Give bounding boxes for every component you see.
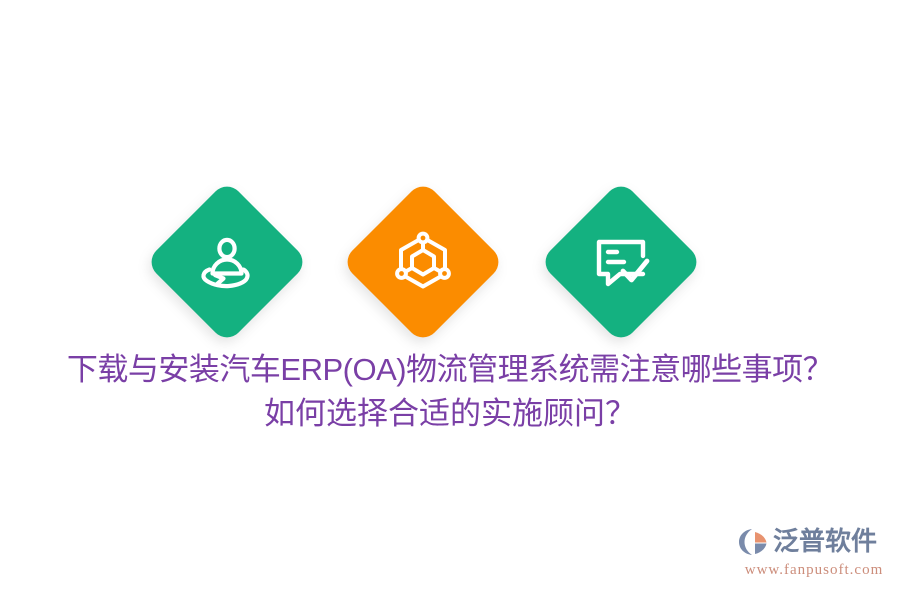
fanpu-logo-mark-icon	[738, 527, 770, 557]
chat-approved-card	[539, 180, 703, 344]
headline: 下载与安装汽车ERP(OA)物流管理系统需注意哪些事项？ 如何选择合适的实施顾问…	[0, 348, 900, 436]
logo-brand-name: 泛普软件	[773, 527, 877, 557]
user-orbit-card	[145, 180, 309, 344]
headline-line-2: 如何选择合适的实施顾问？	[0, 392, 900, 436]
banner-image: 下载与安装汽车ERP(OA)物流管理系统需注意哪些事项？ 如何选择合适的实施顾问…	[0, 0, 900, 600]
logo-url: www.fanpusoft.com	[738, 561, 890, 579]
headline-line-1: 下载与安装汽车ERP(OA)物流管理系统需注意哪些事项？	[0, 348, 900, 392]
watermark-logo: 泛普软件 www.fanpusoft.com	[738, 524, 890, 582]
icon-card-row	[0, 180, 900, 345]
hex-network-card	[341, 180, 505, 344]
logo-row: 泛普软件	[738, 524, 890, 560]
